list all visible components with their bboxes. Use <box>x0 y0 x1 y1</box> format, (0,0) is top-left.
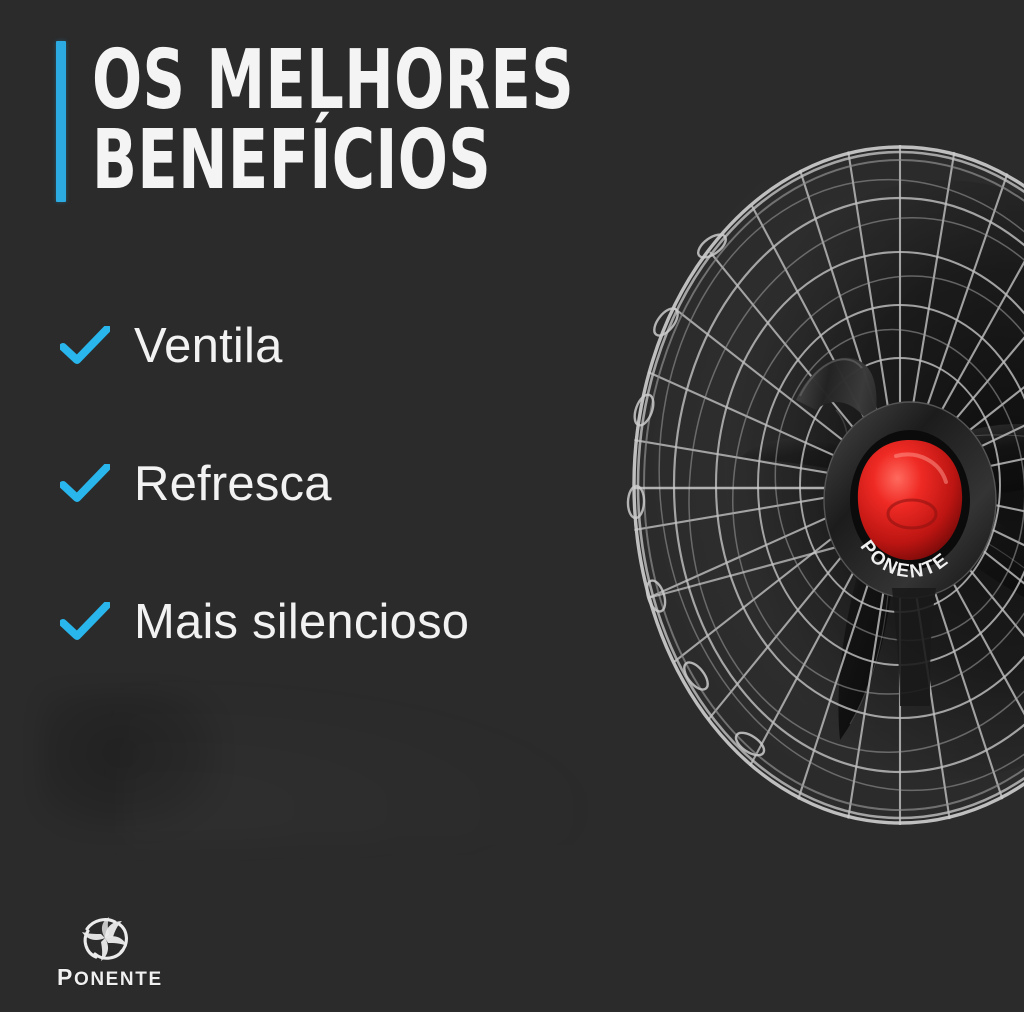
headline-line-2: BENEFÍCIOS <box>92 121 574 201</box>
fan-swirl-icon <box>79 916 131 962</box>
fan-front-arm <box>796 358 900 562</box>
list-item-label: Mais silencioso <box>134 598 469 647</box>
brand-name-initial: P <box>57 964 74 990</box>
list-item-label: Refresca <box>134 460 332 509</box>
product-glow <box>640 180 1024 800</box>
check-icon <box>60 321 110 371</box>
background-ghost-highlight <box>120 665 640 845</box>
list-item: Ventila <box>60 312 660 380</box>
poster-canvas: PONENTE OS MELHORES BENEFÍCIOS <box>0 0 1024 1024</box>
headline-line-1: OS MELHORES <box>92 41 574 121</box>
benefits-list: Ventila Refresca Mais silencioso <box>60 312 660 656</box>
list-item: Mais silencioso <box>60 588 660 656</box>
poster-card: PONENTE OS MELHORES BENEFÍCIOS <box>0 0 1024 1012</box>
list-item-label: Ventila <box>134 322 283 371</box>
check-icon <box>60 459 110 509</box>
bottom-strip <box>0 1012 1024 1024</box>
list-item: Refresca <box>60 450 660 518</box>
fan-hub: PONENTE <box>824 402 996 598</box>
svg-text:PONENTE: PONENTE <box>856 537 954 583</box>
page-title: OS MELHORES BENEFÍCIOS <box>92 41 574 202</box>
headline-block: OS MELHORES BENEFÍCIOS <box>56 41 695 202</box>
check-icon <box>60 597 110 647</box>
fan-center-cap <box>858 440 962 560</box>
brand-name-rest: ONENTE <box>74 969 163 990</box>
accent-bar <box>56 41 66 202</box>
background-ghost-shape <box>40 690 220 830</box>
brand-logo: PONENTE <box>57 916 237 991</box>
wall-fan-product-photo: PONENTE <box>600 110 1024 870</box>
brand-name: PONENTE <box>57 964 237 991</box>
